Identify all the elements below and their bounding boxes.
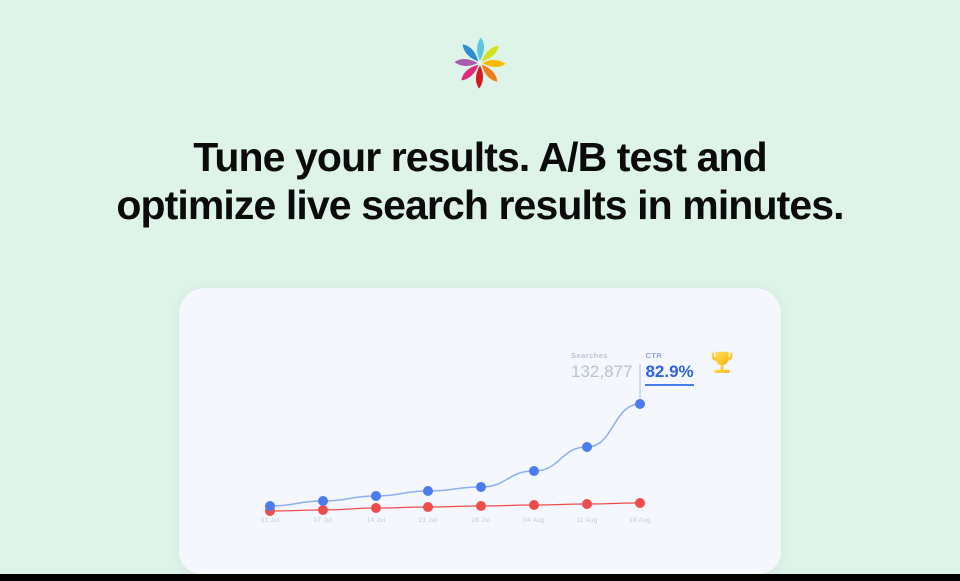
data-point[interactable] [265,501,275,511]
headline-line-2: optimize live search results in minutes. [0,181,960,229]
stat-ctr-value: 82.9% [645,361,693,386]
data-point[interactable] [635,399,645,409]
data-point[interactable] [423,486,433,496]
chart-x-axis: 01 Jul07 Jul14 Jul21 Jul28 Jul04 Aug11 A… [179,517,781,531]
stat-searches-value: 132,877 [571,361,632,382]
series-markers-variant-b [265,399,645,511]
data-point[interactable] [371,503,381,513]
pinwheel-flower-logo [451,34,509,92]
data-point[interactable] [371,491,381,501]
landing-page: Tune your results. A/B test and optimize… [0,0,960,574]
data-point[interactable] [582,499,592,509]
stat-ctr: CTR 82.9% [645,350,693,386]
analytics-card: 01 Jul07 Jul14 Jul21 Jul28 Jul04 Aug11 A… [179,288,781,574]
data-point[interactable] [529,466,539,476]
trophy-icon [707,348,737,378]
logo-container [0,30,960,96]
series-line-variant-b [270,404,640,506]
x-axis-tick-label: 14 Jul [367,517,386,524]
x-axis-tick-label: 21 Jul [419,517,438,524]
data-point[interactable] [582,442,592,452]
data-point[interactable] [635,498,645,508]
data-point[interactable] [318,496,328,506]
stat-searches-label: Searches [571,350,632,361]
data-point[interactable] [476,482,486,492]
stats-tooltip: Searches 132,877 CTR 82.9% [571,350,737,386]
x-axis-tick-label: 07 Jul [314,517,333,524]
data-point[interactable] [423,502,433,512]
data-point[interactable] [529,500,539,510]
page-title: Tune your results. A/B test and optimize… [0,133,960,229]
stat-ctr-label: CTR [645,350,693,361]
data-point[interactable] [318,505,328,515]
x-axis-tick-label: 28 Jul [472,517,491,524]
x-axis-tick-label: 04 Aug [523,517,545,524]
data-point[interactable] [476,501,486,511]
x-axis-tick-label: 18 Aug [629,517,651,524]
headline-line-1: Tune your results. A/B test and [0,133,960,181]
x-axis-tick-label: 01 Jul [261,517,280,524]
bottom-black-bar [0,574,960,581]
ab-test-line-chart [179,288,781,574]
stat-searches: Searches 132,877 [571,350,632,382]
x-axis-tick-label: 11 Aug [576,517,597,524]
